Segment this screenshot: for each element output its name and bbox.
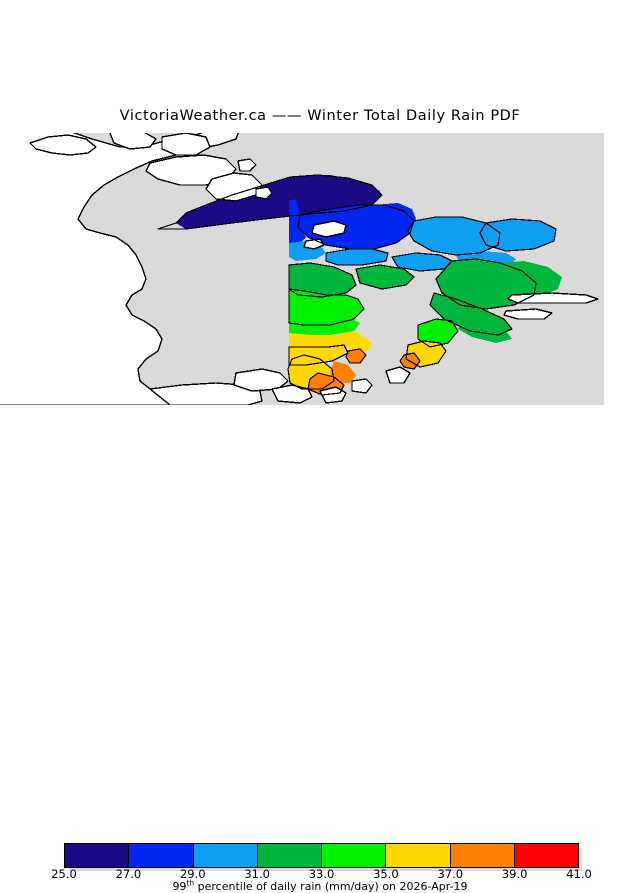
land-island-b	[162, 133, 210, 155]
colorbar-cell-green[interactable]	[258, 844, 322, 867]
colorbar-tick-31-0: 31.0	[227, 867, 287, 881]
colorbar-tick-35-0: 35.0	[356, 867, 416, 881]
colorbar-caption: 99th percentile of daily rain (mm/day) o…	[0, 880, 640, 893]
colorbar-cell-light-blue[interactable]	[194, 844, 258, 867]
colorbar-swatches[interactable]	[64, 843, 579, 868]
colorbar-tick-41-0: 41.0	[549, 867, 609, 881]
colorbar-tick-39-0: 39.0	[485, 867, 545, 881]
caption-ordinal-suffix: th	[186, 878, 194, 887]
colorbar-cell-yellow[interactable]	[386, 844, 450, 867]
colorbar-cell-bright-green[interactable]	[322, 844, 386, 867]
caption-text: percentile of daily rain (mm/day) on 202…	[194, 880, 467, 893]
colorbar-tick-25-0: 25.0	[34, 867, 94, 881]
colorbar-cell-orange[interactable]	[451, 844, 515, 867]
land-strip-east-2	[504, 309, 552, 319]
colorbar-tick-37-0: 37.0	[420, 867, 480, 881]
page-title: VictoriaWeather.ca —— Winter Total Daily…	[0, 106, 640, 126]
outside-domain-right	[604, 133, 640, 405]
colorbar-tick-27-0: 27.0	[98, 867, 158, 881]
colorbar-legend: 25.027.029.031.033.035.037.039.041.0 99t…	[0, 418, 640, 480]
colorbar-tick-33-0: 33.0	[292, 867, 352, 881]
colorbar-cell-blue[interactable]	[129, 844, 193, 867]
map-panel[interactable]	[0, 133, 640, 405]
colorbar-cell-navy[interactable]	[65, 844, 129, 867]
colorbar-tick-labels: 25.027.029.031.033.035.037.039.041.0	[0, 867, 640, 881]
colorbar-cell-red[interactable]	[515, 844, 578, 867]
caption-percentile-number: 99	[172, 880, 186, 893]
weather-map-page: VictoriaWeather.ca —— Winter Total Daily…	[0, 0, 640, 480]
